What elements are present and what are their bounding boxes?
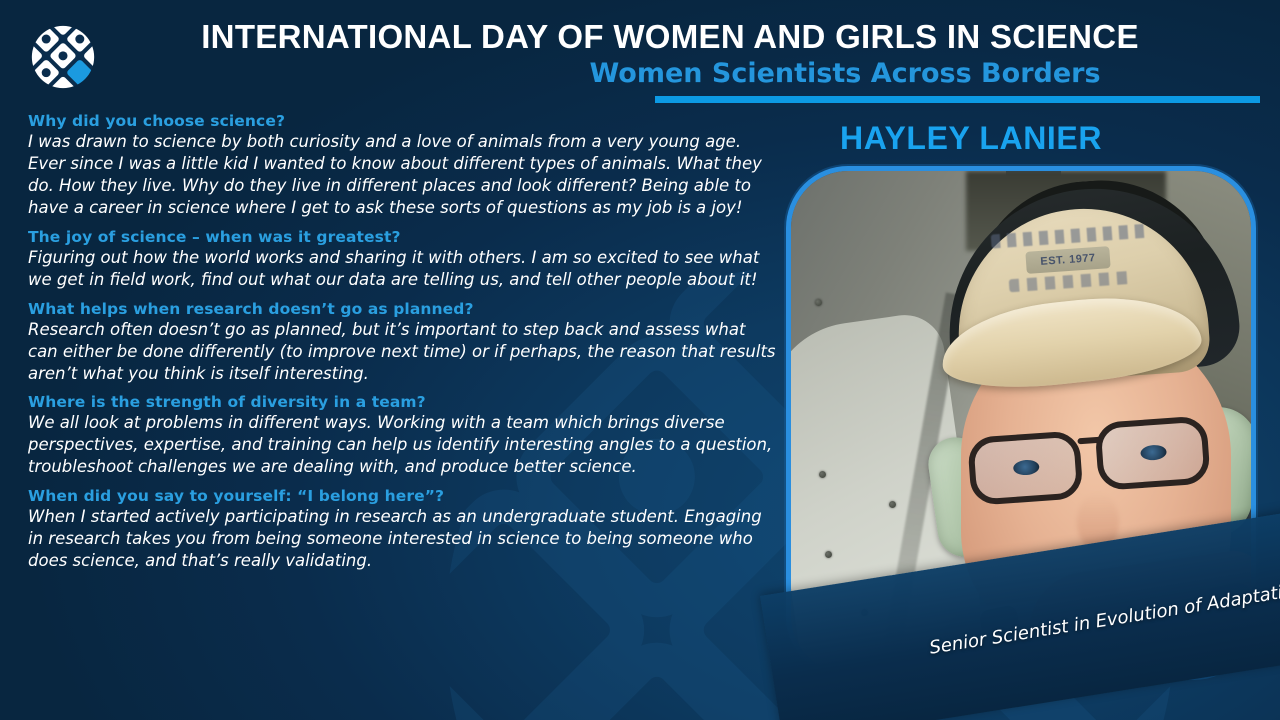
qa-answer: Figuring out how the world works and sha… [28, 247, 778, 291]
qa-question: The joy of science – when was it greates… [28, 228, 778, 246]
qa-item: What helps when research doesn’t go as p… [28, 300, 778, 385]
qa-answer: When I started actively participating in… [28, 506, 778, 572]
qa-question: When did you say to yourself: “I belong … [28, 487, 778, 505]
rivet [815, 299, 822, 306]
qa-answer: We all look at problems in different way… [28, 412, 778, 478]
scientist-name: HAYLEY LANIER [840, 120, 1102, 157]
poster-header: INTERNATIONAL DAY OF WOMEN AND GIRLS IN … [0, 0, 1280, 105]
qa-question: Where is the strength of diversity in a … [28, 393, 778, 411]
qa-item: Where is the strength of diversity in a … [28, 393, 778, 478]
title-underline-rule [655, 96, 1260, 103]
qa-item: Why did you choose science? I was drawn … [28, 112, 778, 219]
qa-question: What helps when research doesn’t go as p… [28, 300, 778, 318]
rivet [889, 501, 896, 508]
qa-item: When did you say to yourself: “I belong … [28, 487, 778, 572]
page-title: INTERNATIONAL DAY OF WOMEN AND GIRLS IN … [130, 18, 1210, 56]
qa-list: Why did you choose science? I was drawn … [28, 112, 778, 581]
page-subtitle: Women Scientists Across Borders [480, 58, 1210, 89]
rivet [825, 551, 832, 558]
rivet [819, 471, 826, 478]
poster-canvas: INTERNATIONAL DAY OF WOMEN AND GIRLS IN … [0, 0, 1280, 720]
qa-answer: I was drawn to science by both curiosity… [28, 131, 778, 219]
organization-logo-icon [22, 16, 104, 98]
qa-answer: Research often doesn’t go as planned, bu… [28, 319, 778, 385]
qa-question: Why did you choose science? [28, 112, 778, 130]
qa-item: The joy of science – when was it greates… [28, 228, 778, 291]
